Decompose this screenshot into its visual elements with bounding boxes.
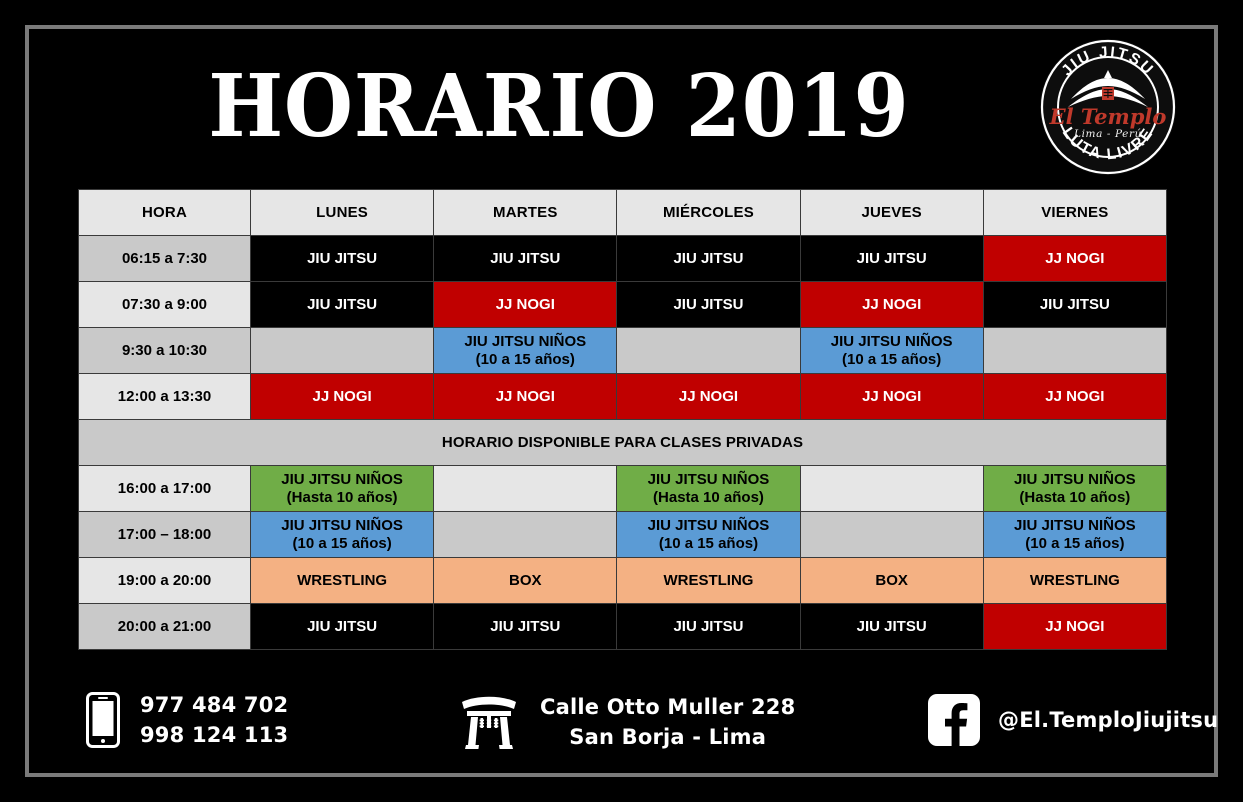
footer-phone-block: 977 484 702 998 124 113 [86, 690, 288, 750]
cell-class-name: JJ NOGI [986, 388, 1164, 406]
schedule-cell: WRESTLING [617, 558, 800, 604]
logo-location-text: Lima - Perú [1073, 128, 1142, 140]
schedule-cell [800, 466, 983, 512]
cell-age-range: (Hasta 10 años) [986, 489, 1164, 507]
schedule-cell: JJ NOGI [800, 282, 983, 328]
phone-number-2: 998 124 113 [140, 720, 288, 750]
schedule-cell: JIU JITSU [800, 604, 983, 650]
schedule-cell [434, 466, 617, 512]
schedule-cell: JIU JITSU [434, 604, 617, 650]
schedule-cell [434, 512, 617, 558]
poster-header: HORARIO 2019 JIU JITSU LUTA LIVRE [29, 29, 1214, 181]
cell-class-name: JIU JITSU NIÑOS [619, 471, 797, 489]
schedule-cell: WRESTLING [983, 558, 1166, 604]
schedule-cell: JIU JITSU NIÑOS(Hasta 10 años) [983, 466, 1166, 512]
schedule-cell: JIU JITSU NIÑOS(10 a 15 años) [251, 512, 434, 558]
facebook-icon[interactable] [928, 694, 980, 746]
time-slot-label: 12:00 a 13:30 [79, 374, 251, 420]
cell-class-name: BOX [436, 572, 614, 590]
time-slot-label: 06:15 a 7:30 [79, 236, 251, 282]
facebook-handle[interactable]: @El.TemploJiujitsu [998, 705, 1218, 735]
footer-facebook-block[interactable]: @El.TemploJiujitsu [928, 694, 1218, 746]
cell-class-name: JIU JITSU [253, 250, 431, 268]
column-header-day: VIERNES [983, 190, 1166, 236]
cell-class-name: JIU JITSU [619, 296, 797, 314]
cell-class-name: JIU JITSU [253, 296, 431, 314]
address-line-1: Calle Otto Muller 228 [540, 692, 795, 722]
schedule-cell: JIU JITSU NIÑOS(10 a 15 años) [617, 512, 800, 558]
table-row: 12:00 a 13:30JJ NOGIJJ NOGIJJ NOGIJJ NOG… [79, 374, 1167, 420]
cell-class-name: JJ NOGI [986, 250, 1164, 268]
schedule-cell: JIU JITSU [251, 236, 434, 282]
schedule-cell: JJ NOGI [434, 282, 617, 328]
table-row: 06:15 a 7:30JIU JITSUJIU JITSUJIU JITSUJ… [79, 236, 1167, 282]
cell-class-name: BOX [803, 572, 981, 590]
cell-class-name: JIU JITSU NIÑOS [803, 333, 981, 351]
cell-class-name: JIU JITSU [803, 618, 981, 636]
time-slot-label: 19:00 a 20:00 [79, 558, 251, 604]
cell-class-name: JJ NOGI [253, 388, 431, 406]
page-title: HORARIO 2019 [173, 59, 946, 155]
cell-class-name: JIU JITSU [619, 618, 797, 636]
cell-age-range: (10 a 15 años) [803, 351, 981, 369]
table-row: 17:00 – 18:00JIU JITSU NIÑOS(10 a 15 año… [79, 512, 1167, 558]
cell-age-range: (10 a 15 años) [986, 535, 1164, 553]
cell-class-name: JJ NOGI [986, 618, 1164, 636]
schedule-table-container: HORALUNESMARTESMIÉRCOLESJUEVESVIERNES 06… [78, 189, 1166, 650]
time-slot-label: 9:30 a 10:30 [79, 328, 251, 374]
schedule-cell: BOX [434, 558, 617, 604]
schedule-cell: JIU JITSU NIÑOS(10 a 15 años) [983, 512, 1166, 558]
schedule-cell [251, 328, 434, 374]
cell-class-name: JIU JITSU NIÑOS [253, 471, 431, 489]
schedule-cell [617, 328, 800, 374]
schedule-cell: JIU JITSU NIÑOS(Hasta 10 años) [617, 466, 800, 512]
schedule-cell: WRESTLING [251, 558, 434, 604]
column-header-hora: HORA [79, 190, 251, 236]
schedule-cell [800, 512, 983, 558]
table-row: 9:30 a 10:30JIU JITSU NIÑOS(10 a 15 años… [79, 328, 1167, 374]
cell-class-name: JIU JITSU [436, 250, 614, 268]
schedule-cell [983, 328, 1166, 374]
table-row: 16:00 a 17:00JIU JITSU NIÑOS(Hasta 10 añ… [79, 466, 1167, 512]
cell-class-name: JJ NOGI [436, 388, 614, 406]
private-classes-banner-row: HORARIO DISPONIBLE PARA CLASES PRIVADAS [79, 420, 1167, 466]
poster-footer: 977 484 702 998 124 113 [78, 686, 1178, 766]
schedule-cell: JIU JITSU NIÑOS(10 a 15 años) [800, 328, 983, 374]
address-lines: Calle Otto Muller 228 San Borja - Lima [540, 692, 795, 752]
table-row: 07:30 a 9:00JIU JITSUJJ NOGIJIU JITSUJJ … [79, 282, 1167, 328]
cell-class-name: JIU JITSU [436, 618, 614, 636]
table-body: 06:15 a 7:30JIU JITSUJIU JITSUJIU JITSUJ… [79, 236, 1167, 650]
schedule-cell: JIU JITSU NIÑOS(10 a 15 años) [434, 328, 617, 374]
time-slot-label: 17:00 – 18:00 [79, 512, 251, 558]
column-header-day: LUNES [251, 190, 434, 236]
cell-class-name: JIU JITSU [253, 618, 431, 636]
schedule-cell: JIU JITSU [251, 282, 434, 328]
footer-address-block: Calle Otto Muller 228 San Borja - Lima [458, 692, 795, 752]
cell-class-name: JIU JITSU [803, 250, 981, 268]
cell-class-name: JIU JITSU NIÑOS [986, 517, 1164, 535]
schedule-cell: JIU JITSU [617, 236, 800, 282]
time-slot-label: 07:30 a 9:00 [79, 282, 251, 328]
schedule-cell: JJ NOGI [800, 374, 983, 420]
table-header-row: HORALUNESMARTESMIÉRCOLESJUEVESVIERNES [79, 190, 1167, 236]
cell-age-range: (10 a 15 años) [619, 535, 797, 553]
cell-class-name: JJ NOGI [436, 296, 614, 314]
column-header-day: JUEVES [800, 190, 983, 236]
address-line-2: San Borja - Lima [540, 722, 795, 752]
private-classes-banner: HORARIO DISPONIBLE PARA CLASES PRIVADAS [79, 420, 1167, 466]
schedule-cell: JIU JITSU [251, 604, 434, 650]
cell-class-name: JJ NOGI [803, 296, 981, 314]
cell-class-name: JIU JITSU [619, 250, 797, 268]
torii-gate-icon [458, 693, 520, 751]
phone-numbers: 977 484 702 998 124 113 [140, 690, 288, 750]
logo-brand-text: El Templo [1049, 104, 1167, 129]
mobile-phone-icon [86, 692, 120, 748]
schedule-poster: HORARIO 2019 JIU JITSU LUTA LIVRE [0, 0, 1243, 802]
brand-logo: JIU JITSU LUTA LIVRE E [1038, 37, 1178, 177]
cell-class-name: WRESTLING [619, 572, 797, 590]
schedule-cell: JJ NOGI [983, 236, 1166, 282]
schedule-cell: BOX [800, 558, 983, 604]
cell-class-name: JJ NOGI [619, 388, 797, 406]
schedule-cell: JJ NOGI [983, 604, 1166, 650]
schedule-table: HORALUNESMARTESMIÉRCOLESJUEVESVIERNES 06… [78, 189, 1167, 650]
schedule-cell: JJ NOGI [617, 374, 800, 420]
schedule-cell: JIU JITSU [617, 282, 800, 328]
schedule-cell: JJ NOGI [983, 374, 1166, 420]
table-row: 19:00 a 20:00WRESTLINGBOXWRESTLINGBOXWRE… [79, 558, 1167, 604]
cell-class-name: JIU JITSU [986, 296, 1164, 314]
column-header-day: MARTES [434, 190, 617, 236]
schedule-cell: JIU JITSU [800, 236, 983, 282]
cell-class-name: JIU JITSU NIÑOS [253, 517, 431, 535]
table-row: 20:00 a 21:00JIU JITSUJIU JITSUJIU JITSU… [79, 604, 1167, 650]
schedule-cell: JJ NOGI [251, 374, 434, 420]
cell-class-name: JJ NOGI [803, 388, 981, 406]
cell-age-range: (10 a 15 años) [436, 351, 614, 369]
schedule-cell: JJ NOGI [434, 374, 617, 420]
cell-class-name: JIU JITSU NIÑOS [619, 517, 797, 535]
cell-class-name: WRESTLING [986, 572, 1164, 590]
schedule-cell: JIU JITSU [434, 236, 617, 282]
time-slot-label: 16:00 a 17:00 [79, 466, 251, 512]
phone-number-1: 977 484 702 [140, 690, 288, 720]
schedule-cell: JIU JITSU [983, 282, 1166, 328]
schedule-cell: JIU JITSU NIÑOS(Hasta 10 años) [251, 466, 434, 512]
cell-class-name: WRESTLING [253, 572, 431, 590]
column-header-day: MIÉRCOLES [617, 190, 800, 236]
cell-age-range: (Hasta 10 años) [619, 489, 797, 507]
cell-age-range: (Hasta 10 años) [253, 489, 431, 507]
cell-age-range: (10 a 15 años) [253, 535, 431, 553]
schedule-cell: JIU JITSU [617, 604, 800, 650]
cell-class-name: JIU JITSU NIÑOS [986, 471, 1164, 489]
cell-class-name: JIU JITSU NIÑOS [436, 333, 614, 351]
time-slot-label: 20:00 a 21:00 [79, 604, 251, 650]
